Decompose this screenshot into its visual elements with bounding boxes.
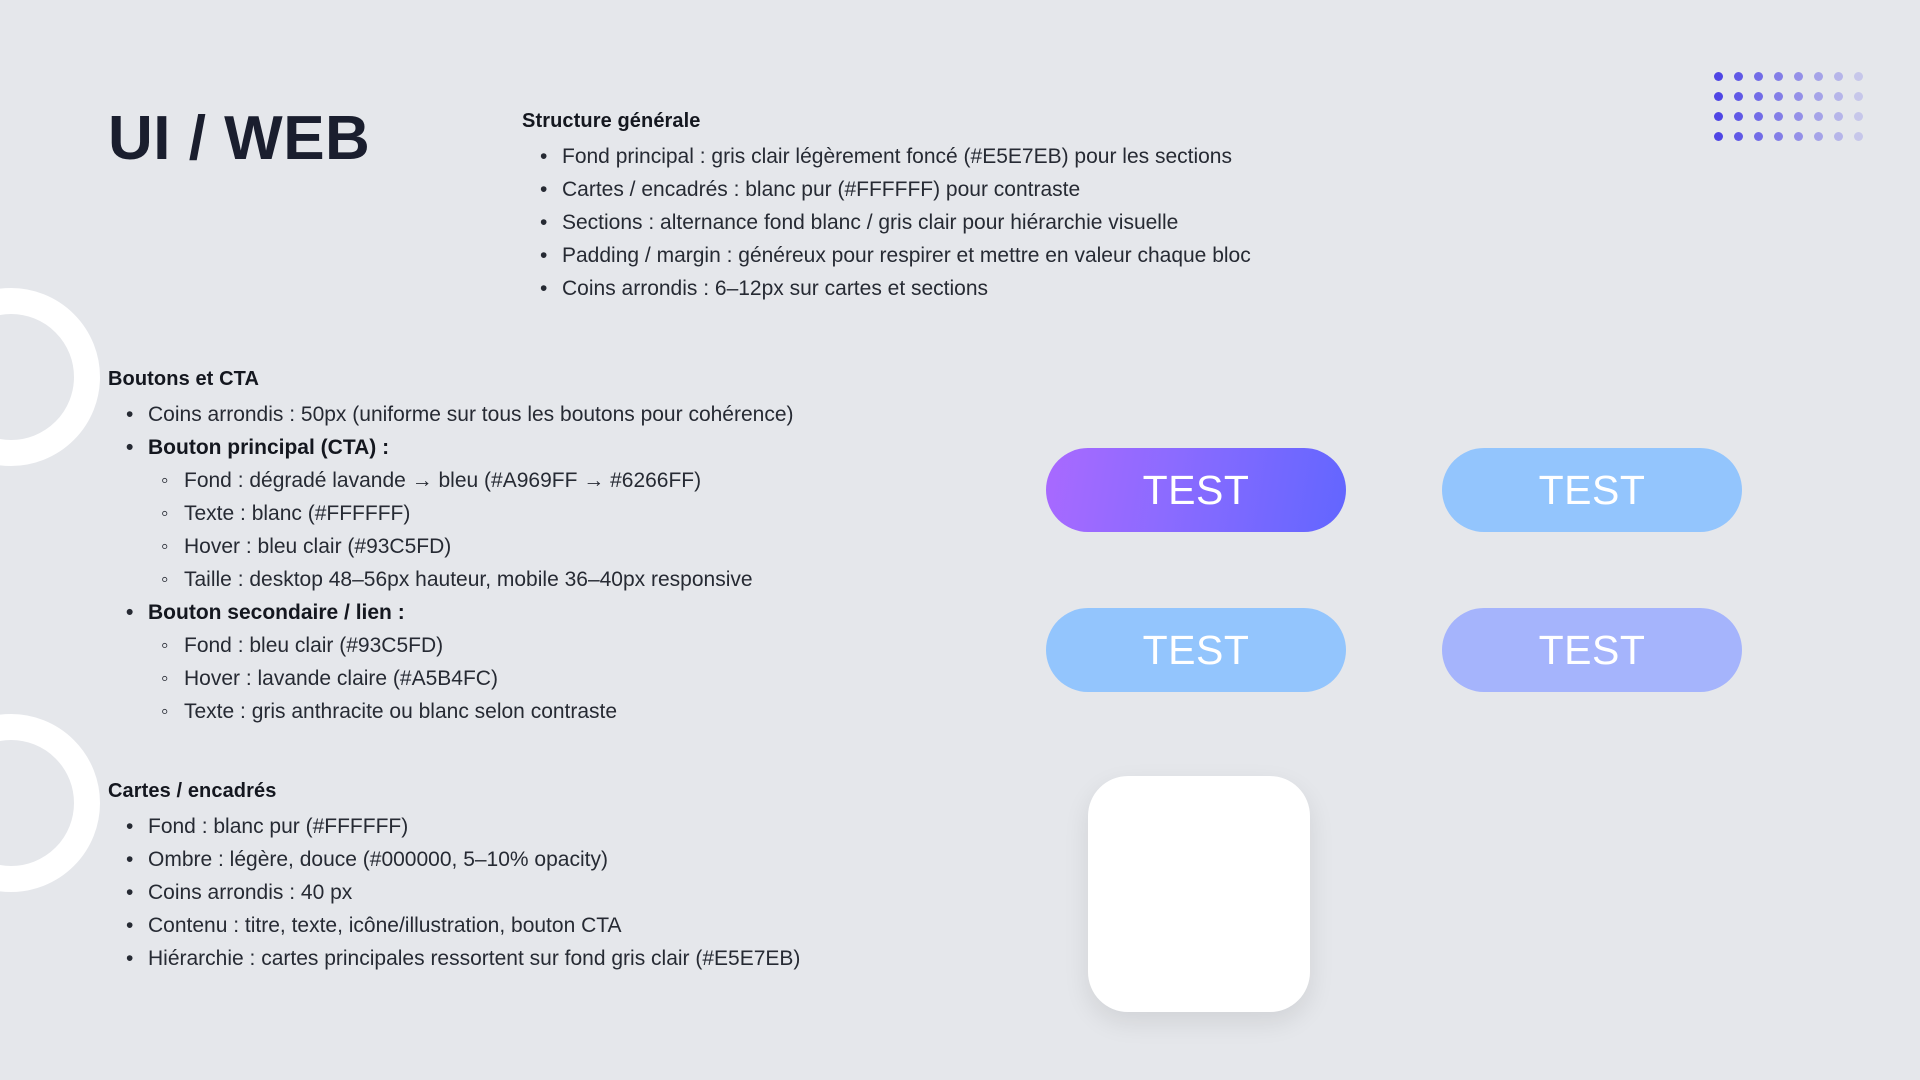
list-item: Bouton secondaire / lien :Fond : bleu cl… <box>148 596 988 728</box>
list-item-label: Coins arrondis : 6–12px sur cartes et se… <box>562 277 988 300</box>
grid-dot-icon <box>1854 112 1863 121</box>
list-item: Padding / margin : généreux pour respire… <box>562 239 1442 272</box>
dot-grid-cell <box>1748 86 1768 106</box>
grid-dot-icon <box>1794 112 1803 121</box>
sublist-item: Taille : desktop 48–56px hauteur, mobile… <box>184 563 988 596</box>
list-item: Coins arrondis : 50px (uniforme sur tous… <box>148 398 988 431</box>
dot-grid-cell <box>1848 126 1868 146</box>
dot-grid-cell <box>1748 126 1768 146</box>
dot-grid-cell <box>1788 86 1808 106</box>
dot-grid-cell <box>1748 66 1768 86</box>
section-heading: Cartes / encadrés <box>108 780 1028 803</box>
sublist-item-label: Hover : bleu clair (#93C5FD) <box>184 535 451 558</box>
dot-grid-cell <box>1828 126 1848 146</box>
spec-sublist: Fond : bleu clair (#93C5FD)Hover : lavan… <box>148 629 988 728</box>
list-item-label: Fond : blanc pur (#FFFFFF) <box>148 815 408 838</box>
dot-grid-cell <box>1768 106 1788 126</box>
section-heading: Structure générale <box>522 110 1442 133</box>
list-item-label: Cartes / encadrés : blanc pur (#FFFFFF) … <box>562 178 1080 201</box>
grid-dot-icon <box>1734 72 1743 81</box>
grid-dot-icon <box>1754 112 1763 121</box>
button-label: TEST <box>1143 627 1250 674</box>
sublist-item-label: Hover : lavande claire (#A5B4FC) <box>184 667 498 690</box>
list-item-label: Bouton secondaire / lien : <box>148 601 405 624</box>
list-item-label: Coins arrondis : 50px (uniforme sur tous… <box>148 403 794 426</box>
grid-dot-icon <box>1774 132 1783 141</box>
sublist-item-label: Taille : desktop 48–56px hauteur, mobile… <box>184 568 753 591</box>
grid-dot-icon <box>1834 92 1843 101</box>
dot-grid-cell <box>1788 106 1808 126</box>
test-button-primary-gradient[interactable]: TEST <box>1046 448 1346 532</box>
list-item: Sections : alternance fond blanc / gris … <box>562 206 1442 239</box>
dot-grid-cell <box>1788 126 1808 146</box>
list-item: Hiérarchie : cartes principales ressorte… <box>148 942 1028 975</box>
grid-dot-icon <box>1854 92 1863 101</box>
grid-dot-icon <box>1814 92 1823 101</box>
dot-grid-cell <box>1808 66 1828 86</box>
list-item-label: Hiérarchie : cartes principales ressorte… <box>148 947 800 970</box>
grid-dot-icon <box>1854 132 1863 141</box>
grid-dot-icon <box>1814 72 1823 81</box>
grid-dot-icon <box>1774 112 1783 121</box>
dot-grid-cell <box>1748 106 1768 126</box>
grid-dot-icon <box>1714 72 1723 81</box>
list-item-label: Sections : alternance fond blanc / gris … <box>562 211 1178 234</box>
sublist-item-label: Fond : dégradé lavande → bleu (#A969FF →… <box>184 469 701 492</box>
grid-dot-icon <box>1734 92 1743 101</box>
grid-dot-icon <box>1714 132 1723 141</box>
grid-dot-icon <box>1754 72 1763 81</box>
dot-grid-cell <box>1708 126 1728 146</box>
list-item: Fond principal : gris clair légèrement f… <box>562 140 1442 173</box>
grid-dot-icon <box>1794 72 1803 81</box>
decorative-ring-top <box>0 288 100 466</box>
test-button-lavender[interactable]: TEST <box>1442 608 1742 692</box>
dot-grid-cell <box>1808 106 1828 126</box>
dot-grid-cell <box>1808 86 1828 106</box>
decorative-ring-bottom <box>0 714 100 892</box>
dot-grid-cell <box>1828 106 1848 126</box>
spec-list: Fond : blanc pur (#FFFFFF)Ombre : légère… <box>108 810 1028 975</box>
section-cartes-encadres: Cartes / encadrésFond : blanc pur (#FFFF… <box>108 780 1028 975</box>
grid-dot-icon <box>1834 112 1843 121</box>
sublist-item-label: Texte : blanc (#FFFFFF) <box>184 502 410 525</box>
list-item-label: Ombre : légère, douce (#000000, 5–10% op… <box>148 848 608 871</box>
grid-dot-icon <box>1714 92 1723 101</box>
sublist-item-label: Texte : gris anthracite ou blanc selon c… <box>184 700 617 723</box>
grid-dot-icon <box>1734 132 1743 141</box>
grid-dot-icon <box>1814 112 1823 121</box>
list-item: Coins arrondis : 40 px <box>148 876 1028 909</box>
spec-list: Coins arrondis : 50px (uniforme sur tous… <box>108 398 988 728</box>
grid-dot-icon <box>1774 92 1783 101</box>
list-item: Bouton principal (CTA) :Fond : dégradé l… <box>148 431 988 596</box>
dot-grid-cell <box>1768 66 1788 86</box>
list-item: Ombre : légère, douce (#000000, 5–10% op… <box>148 843 1028 876</box>
dot-grid-cell <box>1848 106 1868 126</box>
grid-dot-icon <box>1734 112 1743 121</box>
test-button-light-blue-secondary[interactable]: TEST <box>1046 608 1346 692</box>
spec-list: Fond principal : gris clair légèrement f… <box>522 140 1442 305</box>
dot-grid-cell <box>1788 66 1808 86</box>
dot-grid-cell <box>1848 66 1868 86</box>
sublist-item: Fond : dégradé lavande → bleu (#A969FF →… <box>184 464 988 497</box>
grid-dot-icon <box>1754 132 1763 141</box>
list-item-label: Bouton principal (CTA) : <box>148 436 389 459</box>
grid-dot-icon <box>1814 132 1823 141</box>
grid-dot-icon <box>1794 92 1803 101</box>
test-button-light-blue[interactable]: TEST <box>1442 448 1742 532</box>
list-item-label: Contenu : titre, texte, icône/illustrati… <box>148 914 622 937</box>
spec-sublist: Fond : dégradé lavande → bleu (#A969FF →… <box>148 464 988 596</box>
button-label: TEST <box>1539 627 1646 674</box>
list-item: Contenu : titre, texte, icône/illustrati… <box>148 909 1028 942</box>
dot-grid-cell <box>1848 86 1868 106</box>
grid-dot-icon <box>1854 72 1863 81</box>
dot-grid-cell <box>1728 86 1748 106</box>
grid-dot-icon <box>1754 92 1763 101</box>
dot-grid-cell <box>1728 106 1748 126</box>
list-item: Fond : blanc pur (#FFFFFF) <box>148 810 1028 843</box>
grid-dot-icon <box>1834 72 1843 81</box>
dot-grid-cell <box>1828 66 1848 86</box>
list-item: Coins arrondis : 6–12px sur cartes et se… <box>562 272 1442 305</box>
dot-grid-cell <box>1708 86 1728 106</box>
dot-grid-cell <box>1768 86 1788 106</box>
button-label: TEST <box>1539 467 1646 514</box>
button-showcase: TESTTESTTESTTEST <box>1046 448 1742 692</box>
demo-card <box>1088 776 1310 1012</box>
sublist-item-label: Fond : bleu clair (#93C5FD) <box>184 634 443 657</box>
dot-grid-cell <box>1768 126 1788 146</box>
section-structure-generale: Structure généraleFond principal : gris … <box>522 110 1442 305</box>
dot-grid-cell <box>1728 126 1748 146</box>
dot-grid-cell <box>1808 126 1828 146</box>
dot-grid-pattern <box>1708 66 1868 146</box>
dot-grid-cell <box>1728 66 1748 86</box>
dot-grid-cell <box>1828 86 1848 106</box>
grid-dot-icon <box>1774 72 1783 81</box>
dot-grid-cell <box>1708 106 1728 126</box>
list-item-label: Coins arrondis : 40 px <box>148 881 352 904</box>
sublist-item: Hover : lavande claire (#A5B4FC) <box>184 662 988 695</box>
section-boutons-et-cta: Boutons et CTACoins arrondis : 50px (uni… <box>108 368 988 728</box>
sublist-item: Texte : gris anthracite ou blanc selon c… <box>184 695 988 728</box>
sublist-item: Fond : bleu clair (#93C5FD) <box>184 629 988 662</box>
list-item: Cartes / encadrés : blanc pur (#FFFFFF) … <box>562 173 1442 206</box>
sublist-item: Texte : blanc (#FFFFFF) <box>184 497 988 530</box>
section-heading: Boutons et CTA <box>108 368 988 391</box>
page-title: UI / WEB <box>108 108 370 170</box>
grid-dot-icon <box>1714 112 1723 121</box>
button-label: TEST <box>1143 467 1250 514</box>
grid-dot-icon <box>1794 132 1803 141</box>
list-item-label: Padding / margin : généreux pour respire… <box>562 244 1251 267</box>
dot-grid-cell <box>1708 66 1728 86</box>
grid-dot-icon <box>1834 132 1843 141</box>
list-item-label: Fond principal : gris clair légèrement f… <box>562 145 1232 168</box>
sublist-item: Hover : bleu clair (#93C5FD) <box>184 530 988 563</box>
